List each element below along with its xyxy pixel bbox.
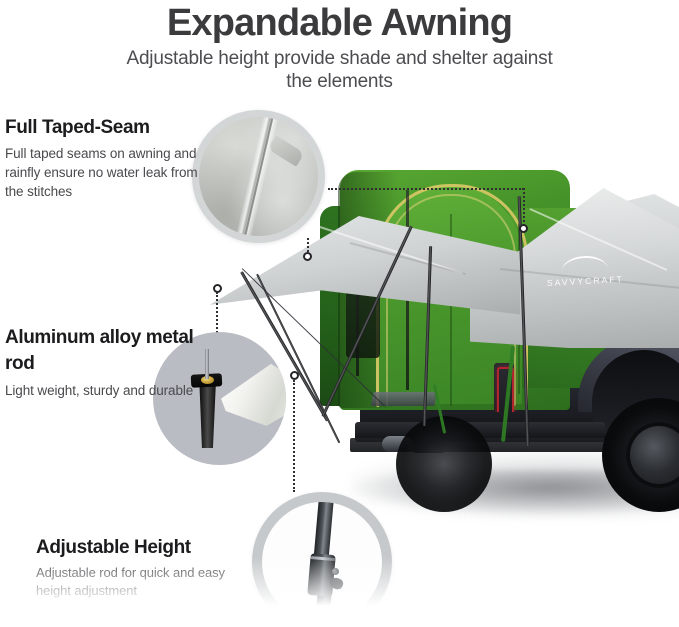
feature-full-taped-seam: Full Taped-Seam Full taped seams on awni… — [5, 116, 205, 201]
page-title: Expandable Awning — [0, 0, 679, 44]
bottom-fade — [0, 557, 679, 627]
leader-line-rod — [216, 292, 218, 336]
feature-aluminum-alloy-metal-rod: Aluminum alloy metal rod Light weight, s… — [5, 325, 205, 400]
brand-logo-group: SAVVYCRAFT — [529, 253, 641, 292]
wheel-rim — [626, 422, 679, 488]
leader-marker-awning-left — [303, 252, 312, 261]
leader-marker-pole-joint — [290, 371, 299, 380]
callout-taped-seam — [192, 110, 325, 243]
leader-line-height — [293, 380, 295, 492]
feature-description: Full taped seams on awning and rainfly e… — [5, 144, 205, 201]
feature-description: Light weight, sturdy and durable — [5, 381, 205, 400]
feature-title: Aluminum alloy metal rod — [5, 325, 205, 377]
awning-fabric — [220, 364, 287, 426]
leader-line-seam-horizontal — [328, 188, 524, 190]
leader-marker-awning-peak — [519, 224, 528, 233]
taped-seam-closeup-icon — [199, 117, 318, 236]
header: Expandable Awning Adjustable height prov… — [0, 0, 679, 93]
infographic-canvas: Expandable Awning Adjustable height prov… — [0, 0, 679, 627]
brand-name: SAVVYCRAFT — [547, 274, 624, 288]
page-subtitle: Adjustable height provide shade and shel… — [125, 47, 555, 93]
rod-pin — [205, 349, 209, 379]
feature-title: Full Taped-Seam — [5, 116, 205, 140]
arc-logo-icon — [561, 255, 608, 271]
